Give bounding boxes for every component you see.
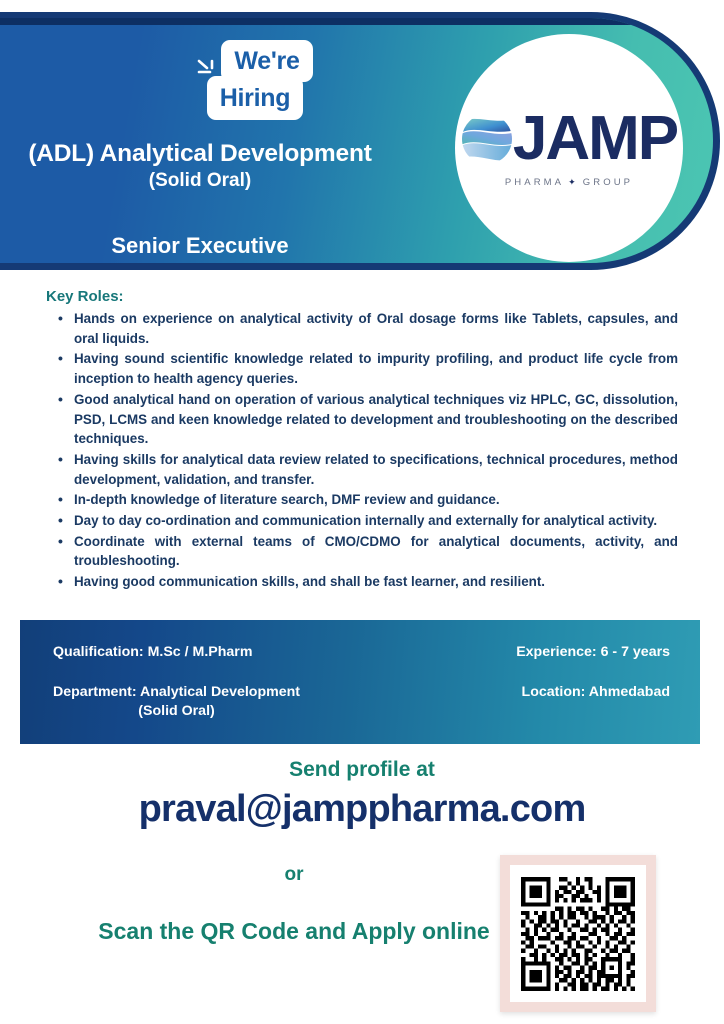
key-roles-section: Key Roles: Hands on experience on analyt… <box>46 288 678 593</box>
were-hiring-badge: We're Hiring <box>195 40 325 122</box>
key-roles-list: Hands on experience on analytical activi… <box>46 309 678 592</box>
location-value: Location: Ahmedabad <box>522 684 670 700</box>
list-item: Having skills for analytical data review… <box>56 450 678 489</box>
list-item: Having sound scientific knowledge relate… <box>56 349 678 388</box>
department-value-wrap: Department: Analytical Development (Soli… <box>53 684 300 719</box>
logo-row: JAMP <box>457 108 677 170</box>
list-item: Coordinate with external teams of CMO/CD… <box>56 532 678 571</box>
jamp-logo: JAMP PHARMA ✦ GROUP <box>455 34 683 262</box>
email-address[interactable]: praval@jamppharma.com <box>0 788 724 831</box>
job-details-band: Qualification: M.Sc / M.Pharm Experience… <box>20 620 700 744</box>
maple-leaf-icon: ✦ <box>568 177 579 188</box>
job-title-line1: (ADL) Analytical Development <box>0 140 406 168</box>
details-row-qualification: Qualification: M.Sc / M.Pharm Experience… <box>20 644 700 660</box>
job-title: (ADL) Analytical Development (Solid Oral… <box>0 140 406 194</box>
logo-tagline: PHARMA ✦ GROUP <box>505 177 633 188</box>
job-title-line2: (Solid Oral) <box>0 168 406 194</box>
jamp-swirl-icon <box>457 109 517 169</box>
list-item: Day to day co-ordination and communicati… <box>56 511 678 531</box>
list-item: Good analytical hand on operation of var… <box>56 390 678 449</box>
header-top-strip <box>0 18 713 25</box>
qr-code-icon[interactable] <box>517 873 639 995</box>
qr-code-frame <box>500 855 656 1012</box>
key-roles-heading: Key Roles: <box>46 288 678 305</box>
logo-wordmark: JAMP <box>513 108 677 170</box>
badge-line-hiring: Hiring <box>207 76 303 120</box>
header-banner: We're Hiring <box>0 12 720 270</box>
details-row-department: Department: Analytical Development (Soli… <box>20 684 700 719</box>
experience-value: Experience: 6 - 7 years <box>516 644 670 660</box>
list-item: Having good communication skills, and sh… <box>56 572 678 592</box>
list-item: In-depth knowledge of literature search,… <box>56 490 678 510</box>
list-item: Hands on experience on analytical activi… <box>56 309 678 348</box>
qualification-value: Qualification: M.Sc / M.Pharm <box>53 644 252 660</box>
job-posting-poster: We're Hiring <box>0 0 724 1024</box>
send-profile-label: Send profile at <box>0 758 724 782</box>
qr-code-inner <box>510 865 646 1002</box>
department-value: Department: Analytical Development <box>53 684 300 700</box>
logo-tagline-left: PHARMA <box>505 177 564 188</box>
department-subvalue: (Solid Oral) <box>53 703 300 719</box>
logo-tagline-right: GROUP <box>583 177 633 188</box>
header-gradient-band: We're Hiring <box>0 18 713 263</box>
job-level: Senior Executive <box>0 233 406 259</box>
